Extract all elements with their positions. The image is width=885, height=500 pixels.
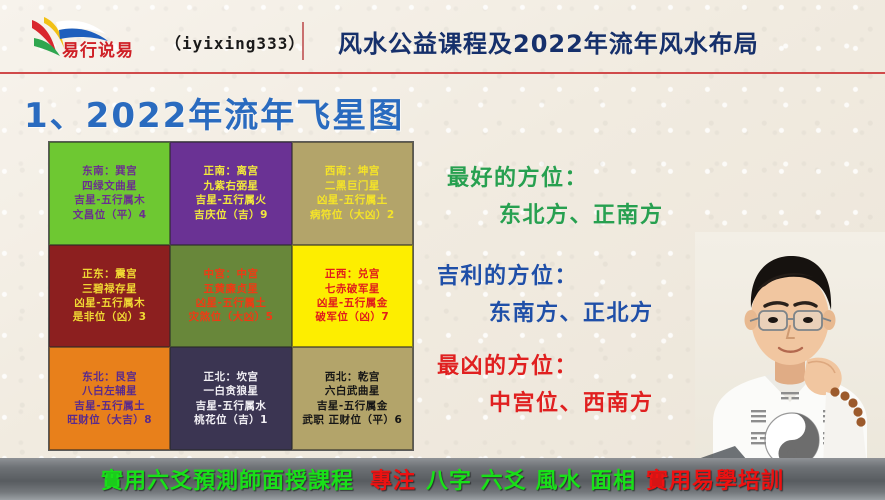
- cell-verdict: 是非位（凶）3: [73, 310, 147, 324]
- cell-position: 东南：巽宫: [82, 164, 137, 178]
- page-title: 1、2022年流年飞星图: [24, 88, 404, 137]
- banner-segment-focus: 專注: [370, 463, 416, 495]
- cell-verdict: 吉庆位（吉）9: [194, 208, 268, 222]
- cell-position: 中宫：中宫: [203, 267, 258, 281]
- advice-value: 东北方、正南方: [499, 197, 664, 229]
- cell-nature: 凶星-五行属金: [317, 296, 388, 310]
- banner-segment-course: 實用六爻預測師面授課程: [101, 463, 354, 495]
- header-divider: [302, 22, 304, 60]
- grid-cell-west: 正西：兑宫 七赤破军星 凶星-五行属金 破军位（凶）7: [292, 245, 413, 348]
- cell-star: 二黑巨门星: [325, 179, 380, 193]
- grid-cell-southwest: 西南：坤宫 二黑巨门星 凶星-五行属土 病符位（大凶）2: [292, 142, 413, 245]
- advice-value: 中宫位、西南方: [489, 385, 654, 417]
- cell-star: 八白左辅星: [82, 384, 137, 398]
- cell-star: 九紫右弼星: [203, 179, 258, 193]
- cell-verdict: 桃花位（吉）1: [194, 413, 268, 427]
- cell-position: 东北：艮宫: [82, 370, 137, 384]
- cell-nature: 吉星-五行属土: [74, 399, 145, 413]
- cell-nature: 吉星-五行属水: [196, 399, 267, 413]
- cell-position: 正南：离宫: [203, 164, 258, 178]
- slide-header: 易行说易 （iyixing333） 风水公益课程及2022年流年风水布局: [0, 0, 885, 74]
- advice-heading: 最好的方位：: [447, 166, 588, 191]
- instructor-photo-illustration: [695, 232, 885, 467]
- brand-logo: 易行说易: [26, 14, 186, 64]
- advice-inauspicious-directions: 最凶的方位： 中宫位、西南方: [437, 348, 654, 417]
- grid-cell-southeast: 东南：巽宫 四绿文曲星 吉星-五行属木 文昌位（平）4: [49, 142, 170, 245]
- grid-cell-north: 正北：坎宫 一白贪狼星 吉星-五行属水 桃花位（吉）1: [170, 347, 291, 450]
- advice-heading: 最凶的方位：: [437, 354, 578, 379]
- header-title: 风水公益课程及2022年流年风水布局: [338, 24, 759, 59]
- instructor-portrait: [695, 232, 885, 467]
- advice-auspicious-directions: 吉利的方位： 东南方、正北方: [437, 258, 654, 327]
- cell-nature: 吉星-五行属金: [317, 399, 388, 413]
- grid-cell-northeast: 东北：艮宫 八白左辅星 吉星-五行属土 旺财位（大吉）8: [49, 347, 170, 450]
- cell-nature: 吉星-五行属火: [196, 193, 267, 207]
- cell-position: 正东：震宫: [82, 267, 137, 281]
- cell-nature: 凶星-五行属土: [196, 296, 267, 310]
- cell-nature: 凶星-五行属土: [317, 193, 388, 207]
- cell-position: 正西：兑宫: [325, 267, 380, 281]
- cell-nature: 吉星-五行属木: [74, 193, 145, 207]
- cell-position: 西北：乾宫: [325, 370, 380, 384]
- cell-nature: 凶星-五行属木: [74, 296, 145, 310]
- cell-star: 三碧禄存星: [82, 282, 137, 296]
- bottom-banner: 實用六爻預測師面授課程 專注 八字 六爻 風水 面相 實用易學培訓: [0, 458, 885, 500]
- cell-star: 一白贪狼星: [203, 384, 258, 398]
- cell-verdict: 旺财位（大吉）8: [67, 413, 152, 427]
- grid-cell-south: 正南：离宫 九紫右弼星 吉星-五行属火 吉庆位（吉）9: [170, 142, 291, 245]
- cell-position: 正北：坎宫: [203, 370, 258, 384]
- cell-verdict: 武职 正财位（平）6: [302, 413, 402, 427]
- cell-star: 四绿文曲星: [82, 179, 137, 193]
- slide-canvas: 易行说易 （iyixing333） 风水公益课程及2022年流年风水布局 1、2…: [0, 0, 885, 500]
- cell-position: 西南：坤宫: [325, 164, 380, 178]
- grid-cell-east: 正东：震宫 三碧禄存星 凶星-五行属木 是非位（凶）3: [49, 245, 170, 348]
- banner-segment-topics: 八字 六爻 風水 面相: [426, 463, 636, 495]
- cell-star: 五黄廉贞星: [203, 282, 258, 296]
- cell-verdict: 破军位（凶）7: [315, 310, 389, 324]
- grid-cell-northwest: 西北：乾宫 六白武曲星 吉星-五行属金 武职 正财位（平）6: [292, 347, 413, 450]
- header-rule: [0, 72, 885, 74]
- brand-handle: （iyixing333）: [165, 30, 305, 54]
- grid-cell-center: 中宫：中宫 五黄廉贞星 凶星-五行属土 灾煞位（大凶）5: [170, 245, 291, 348]
- flying-star-grid: 东南：巽宫 四绿文曲星 吉星-五行属木 文昌位（平）4 正南：离宫 九紫右弼星 …: [48, 141, 414, 451]
- banner-segment-training: 實用易學培訓: [646, 463, 784, 495]
- advice-value: 东南方、正北方: [489, 295, 654, 327]
- cell-verdict: 灾煞位（大凶）5: [189, 310, 274, 324]
- cell-verdict: 病符位（大凶）2: [310, 208, 395, 222]
- advice-heading: 吉利的方位：: [437, 264, 578, 289]
- logo-wordmark: 易行说易: [62, 36, 134, 61]
- cell-star: 七赤破军星: [325, 282, 380, 296]
- cell-star: 六白武曲星: [325, 384, 380, 398]
- cell-verdict: 文昌位（平）4: [73, 208, 147, 222]
- advice-best-directions: 最好的方位： 东北方、正南方: [447, 160, 664, 229]
